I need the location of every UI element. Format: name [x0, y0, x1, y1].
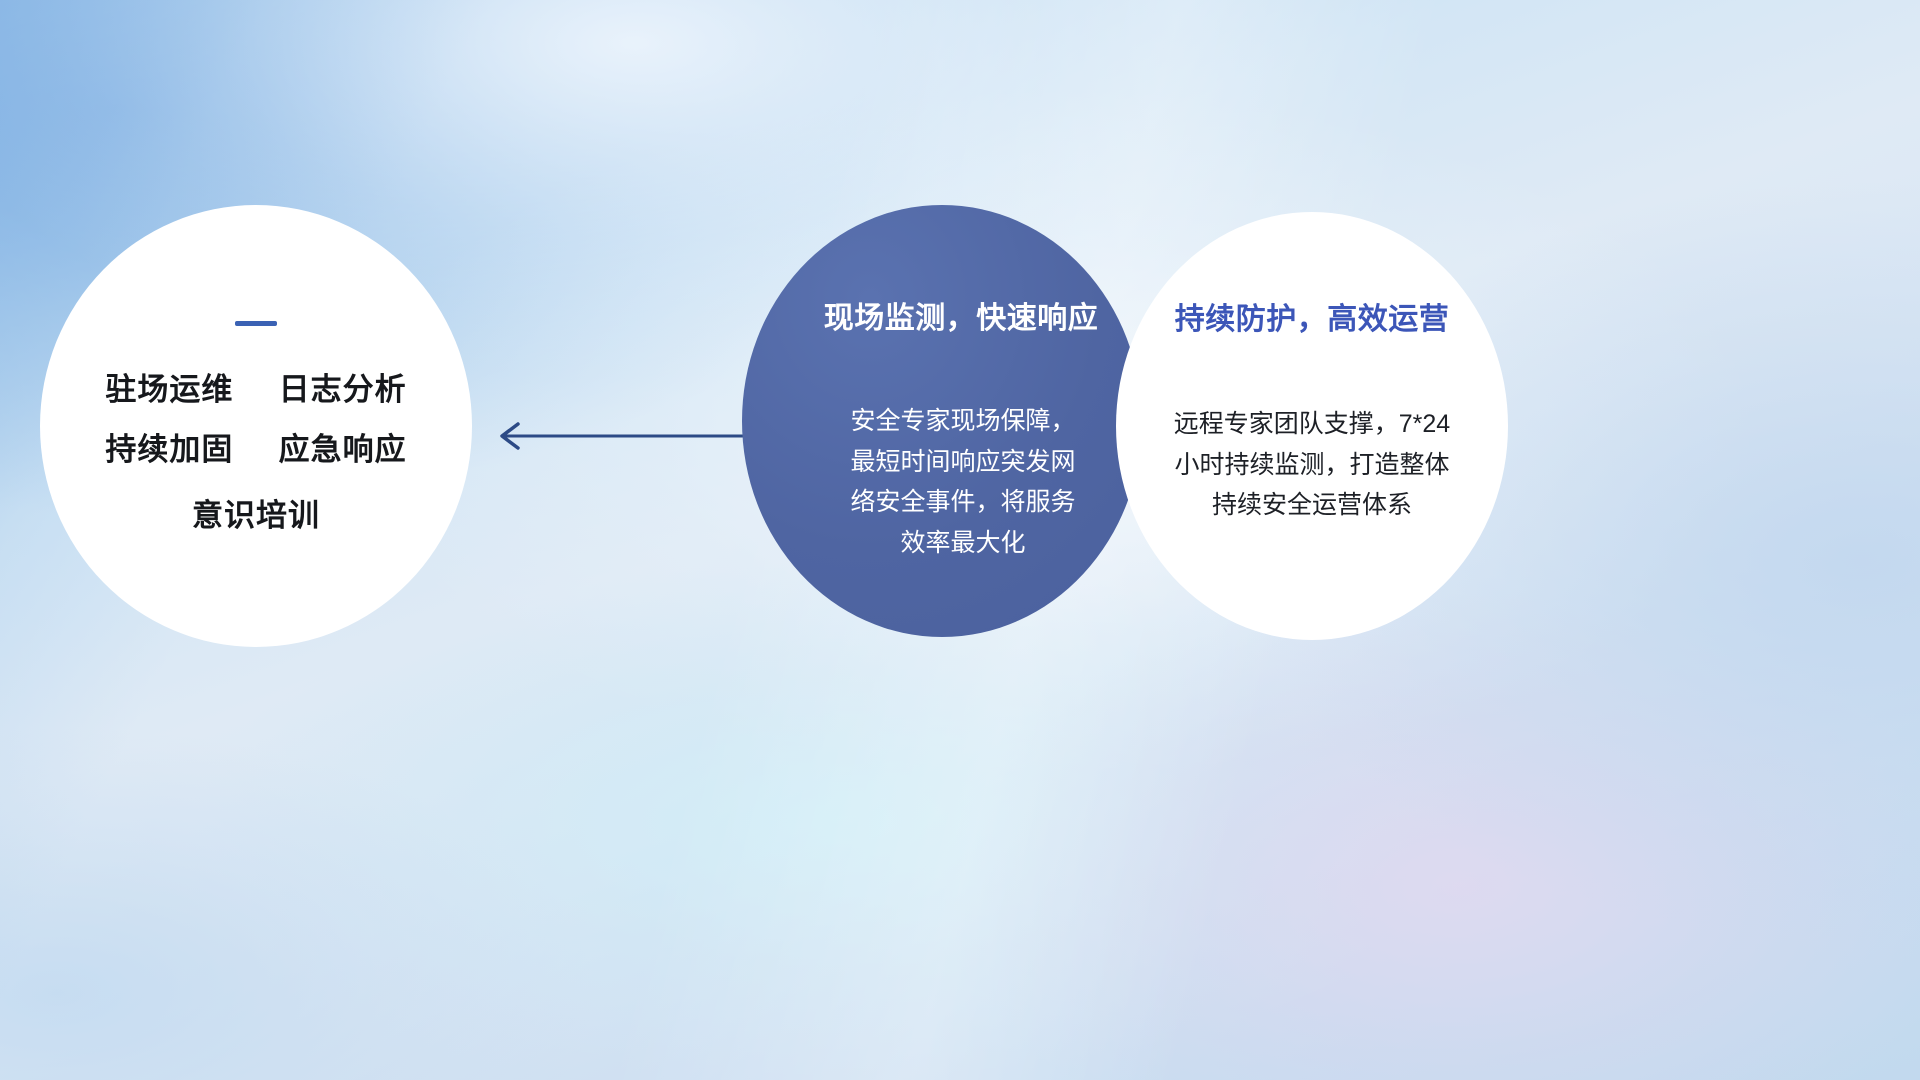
body-line: 络安全事件，将服务: [824, 482, 1102, 523]
node-continuous-protection-body: 远程专家团队支撑，7*24 小时持续监测，打造整体 持续安全运营体系: [1136, 404, 1488, 526]
diagram-canvas: 现场监测，快速响应 安全专家现场保障， 最短时间响应突发网 络安全事件，将服务 …: [0, 0, 1920, 1080]
node-onsite-monitoring-title: 现场监测，快速响应: [786, 293, 1099, 337]
capability-row: 驻场运维 日志分析: [105, 374, 406, 405]
node-continuous-protection-title: 持续防护，高效运营: [1175, 294, 1450, 338]
body-line: 效率最大化: [824, 523, 1102, 564]
body-line: 最短时间响应突发网: [824, 442, 1102, 483]
body-line: 小时持续监测，打造整体: [1136, 445, 1488, 486]
node-capabilities-content: 驻场运维 日志分析 持续加固 应急响应 意识培训: [40, 205, 472, 647]
capability-label: 日志分析: [279, 372, 407, 407]
capability-label: 持续加固: [105, 432, 233, 467]
node-onsite-monitoring-content: 现场监测，快速响应 安全专家现场保障， 最短时间响应突发网 络安全事件，将服务 …: [742, 205, 1142, 637]
leftward-arrow-icon: [486, 420, 754, 452]
capability-row: 持续加固 应急响应: [105, 434, 406, 465]
capability-label: 驻场运维: [105, 372, 233, 407]
body-line: 安全专家现场保障，: [824, 401, 1102, 442]
body-line: 远程专家团队支撑，7*24: [1136, 404, 1488, 445]
body-line: 持续安全运营体系: [1136, 485, 1488, 526]
node-onsite-monitoring-body: 安全专家现场保障， 最短时间响应突发网 络安全事件，将服务 效率最大化: [782, 401, 1102, 563]
capability-row: 意识培训: [192, 500, 320, 531]
node-continuous-protection-content: 持续防护，高效运营 远程专家团队支撑，7*24 小时持续监测，打造整体 持续安全…: [1116, 212, 1508, 640]
divider-dash: [235, 321, 277, 326]
capability-label: 意识培训: [192, 498, 320, 533]
capability-label: 应急响应: [279, 432, 407, 467]
